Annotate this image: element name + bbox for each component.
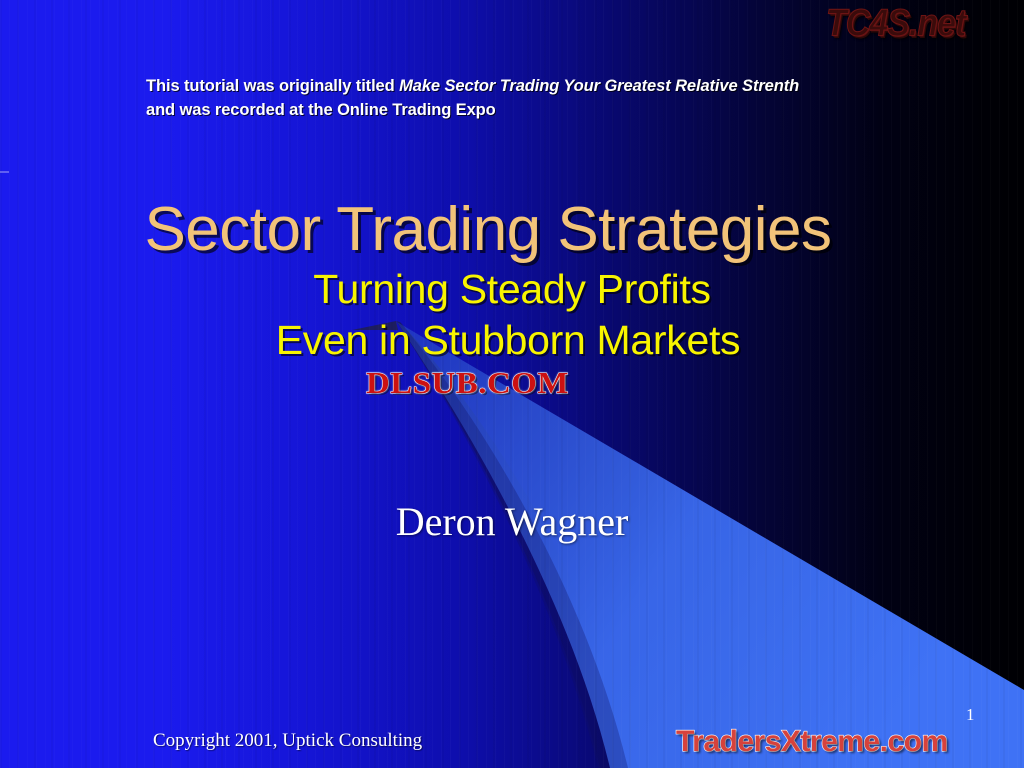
author-name: Deron Wagner	[0, 498, 1024, 546]
tutorial-note: This tutorial was originally titled Make…	[146, 74, 976, 122]
edge-artifact-mark	[0, 171, 9, 173]
presentation-slide: This tutorial was originally titled Make…	[0, 0, 1024, 768]
tutorial-note-original-title: Make Sector Trading Your Greatest Relati…	[399, 77, 799, 95]
page-title: Sector Trading Strategies	[0, 196, 1024, 264]
subtitle-line-2: Even in Stubborn Markets	[0, 315, 1024, 366]
tutorial-note-line2: and was recorded at the Online Trading E…	[146, 101, 496, 119]
subtitle-line-1: Turning Steady Profits	[0, 264, 1024, 315]
watermark-dlsub: DLSUB.COM	[366, 366, 569, 400]
watermark-tc4s: TC4S.net	[826, 2, 965, 45]
slide-page-number: 1	[966, 705, 975, 725]
title-block: Sector Trading Strategies Turning Steady…	[0, 196, 1024, 366]
tutorial-note-prefix: This tutorial was originally titled	[146, 77, 399, 95]
copyright-notice: Copyright 2001, Uptick Consulting	[153, 729, 422, 753]
watermark-tradersxtreme: TradersXtreme.com	[676, 724, 948, 760]
